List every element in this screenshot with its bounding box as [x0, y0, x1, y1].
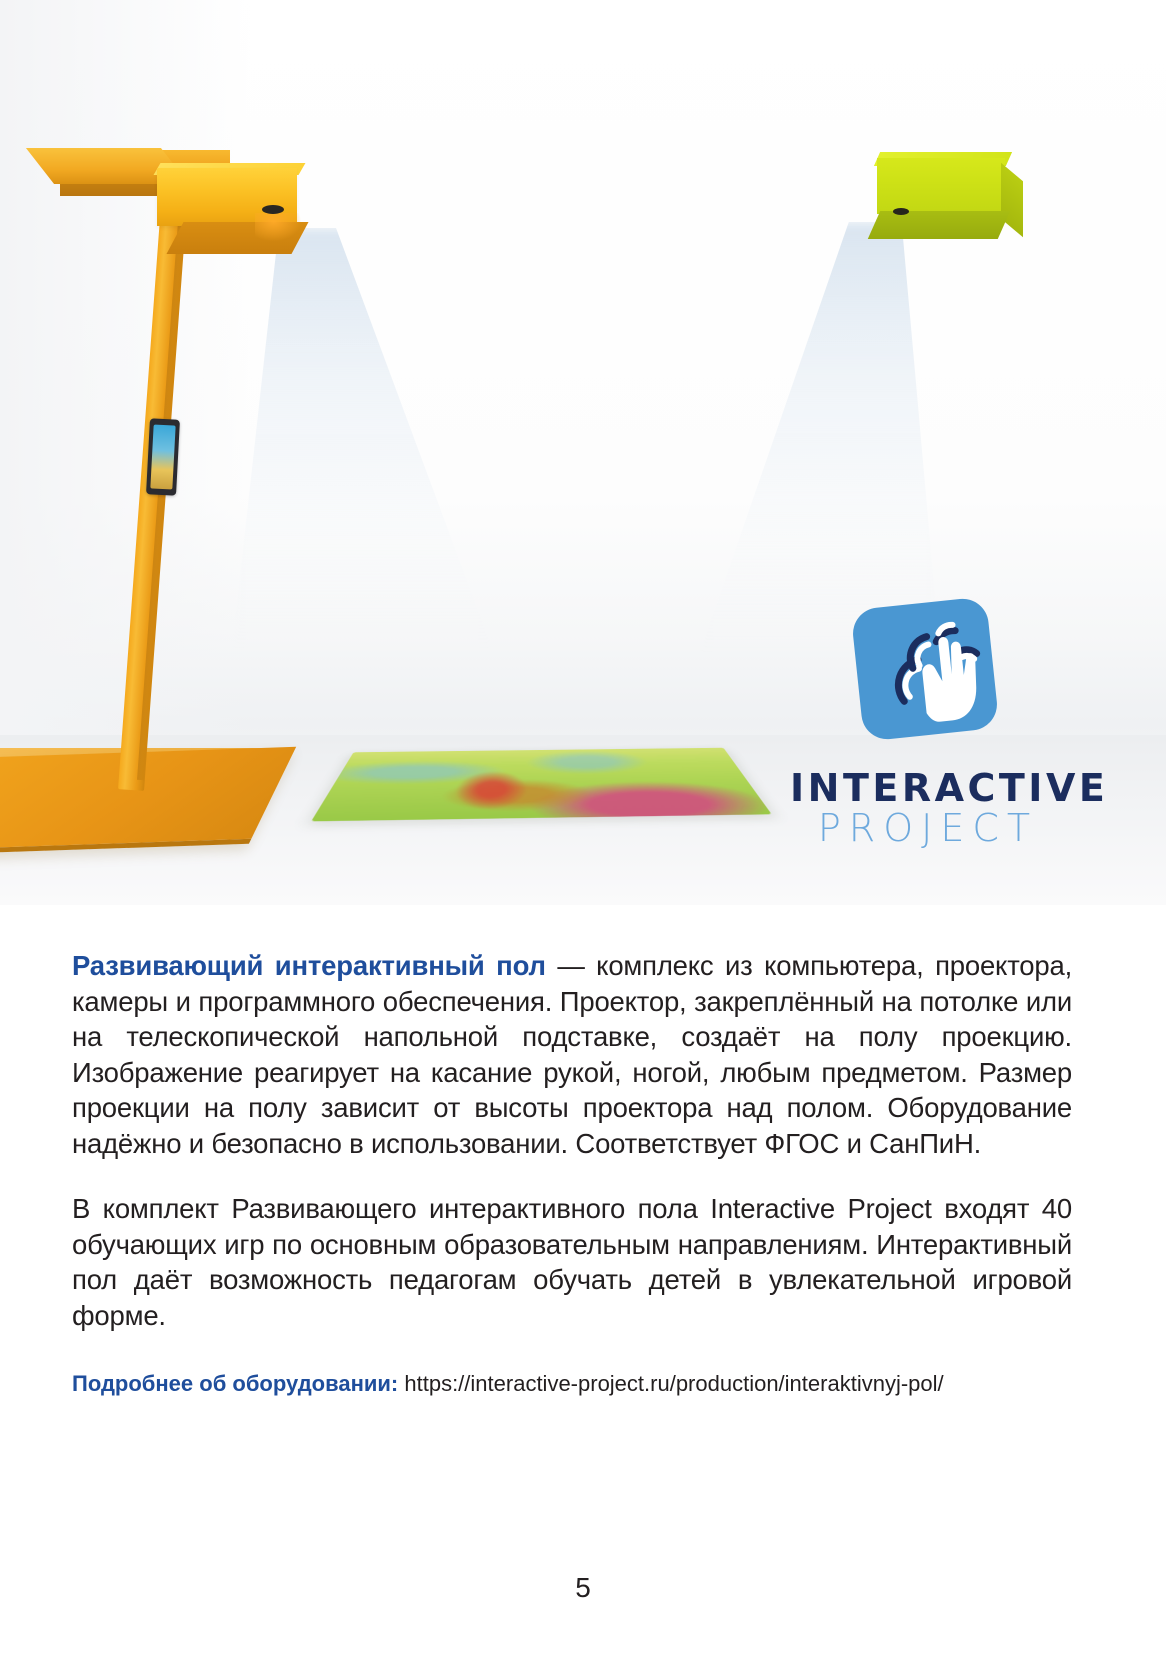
- ceiling-projector: [877, 158, 1005, 214]
- projection-surface: [311, 748, 772, 822]
- more-info-label: Подробнее об оборудовании:: [72, 1371, 398, 1396]
- more-info-line: Подробнее об оборудовании: https://inter…: [72, 1369, 1072, 1399]
- floor-projector-lens-icon: [262, 205, 284, 214]
- tablet-screen: [150, 424, 175, 489]
- paragraph-description: Развивающий интерактивный пол — комплекс…: [72, 948, 1072, 1161]
- more-info-url[interactable]: https://interactive-project.ru/productio…: [404, 1371, 943, 1396]
- floor-projection-image: [311, 748, 772, 822]
- lead-term: Развивающий интерактивный пол: [72, 950, 546, 981]
- paragraph-package: В комплект Развивающего интерактивного п…: [72, 1191, 1072, 1333]
- ceiling-projector-lens-icon: [893, 208, 909, 215]
- hero-photo: INTERACTIVE PROJECT: [0, 0, 1166, 905]
- page-number: 5: [0, 1572, 1166, 1604]
- floor-projector-lamp-glow-icon: [255, 213, 301, 241]
- control-tablet: [146, 418, 180, 495]
- brochure-page: INTERACTIVE PROJECT Развивающий интеракт…: [0, 0, 1166, 1654]
- brand-logo: INTERACTIVE PROJECT: [790, 595, 1060, 851]
- page-content: Развивающий интерактивный пол — комплекс…: [72, 948, 1072, 1399]
- paragraph-description-body: — комплекс из компьютера, проектора, кам…: [72, 950, 1072, 1159]
- touch-hand-icon: [843, 595, 1007, 750]
- light-beam-left-icon: [232, 228, 492, 648]
- ceiling-projector-side-face: [1001, 163, 1023, 237]
- ceiling-projector-underside: [868, 211, 1010, 239]
- light-beam-right-icon: [700, 222, 940, 652]
- wall-shading: [0, 0, 250, 760]
- logo-wordmark-interactive: INTERACTIVE: [790, 769, 1060, 807]
- logo-wordmark-project: PROJECT: [790, 807, 1060, 851]
